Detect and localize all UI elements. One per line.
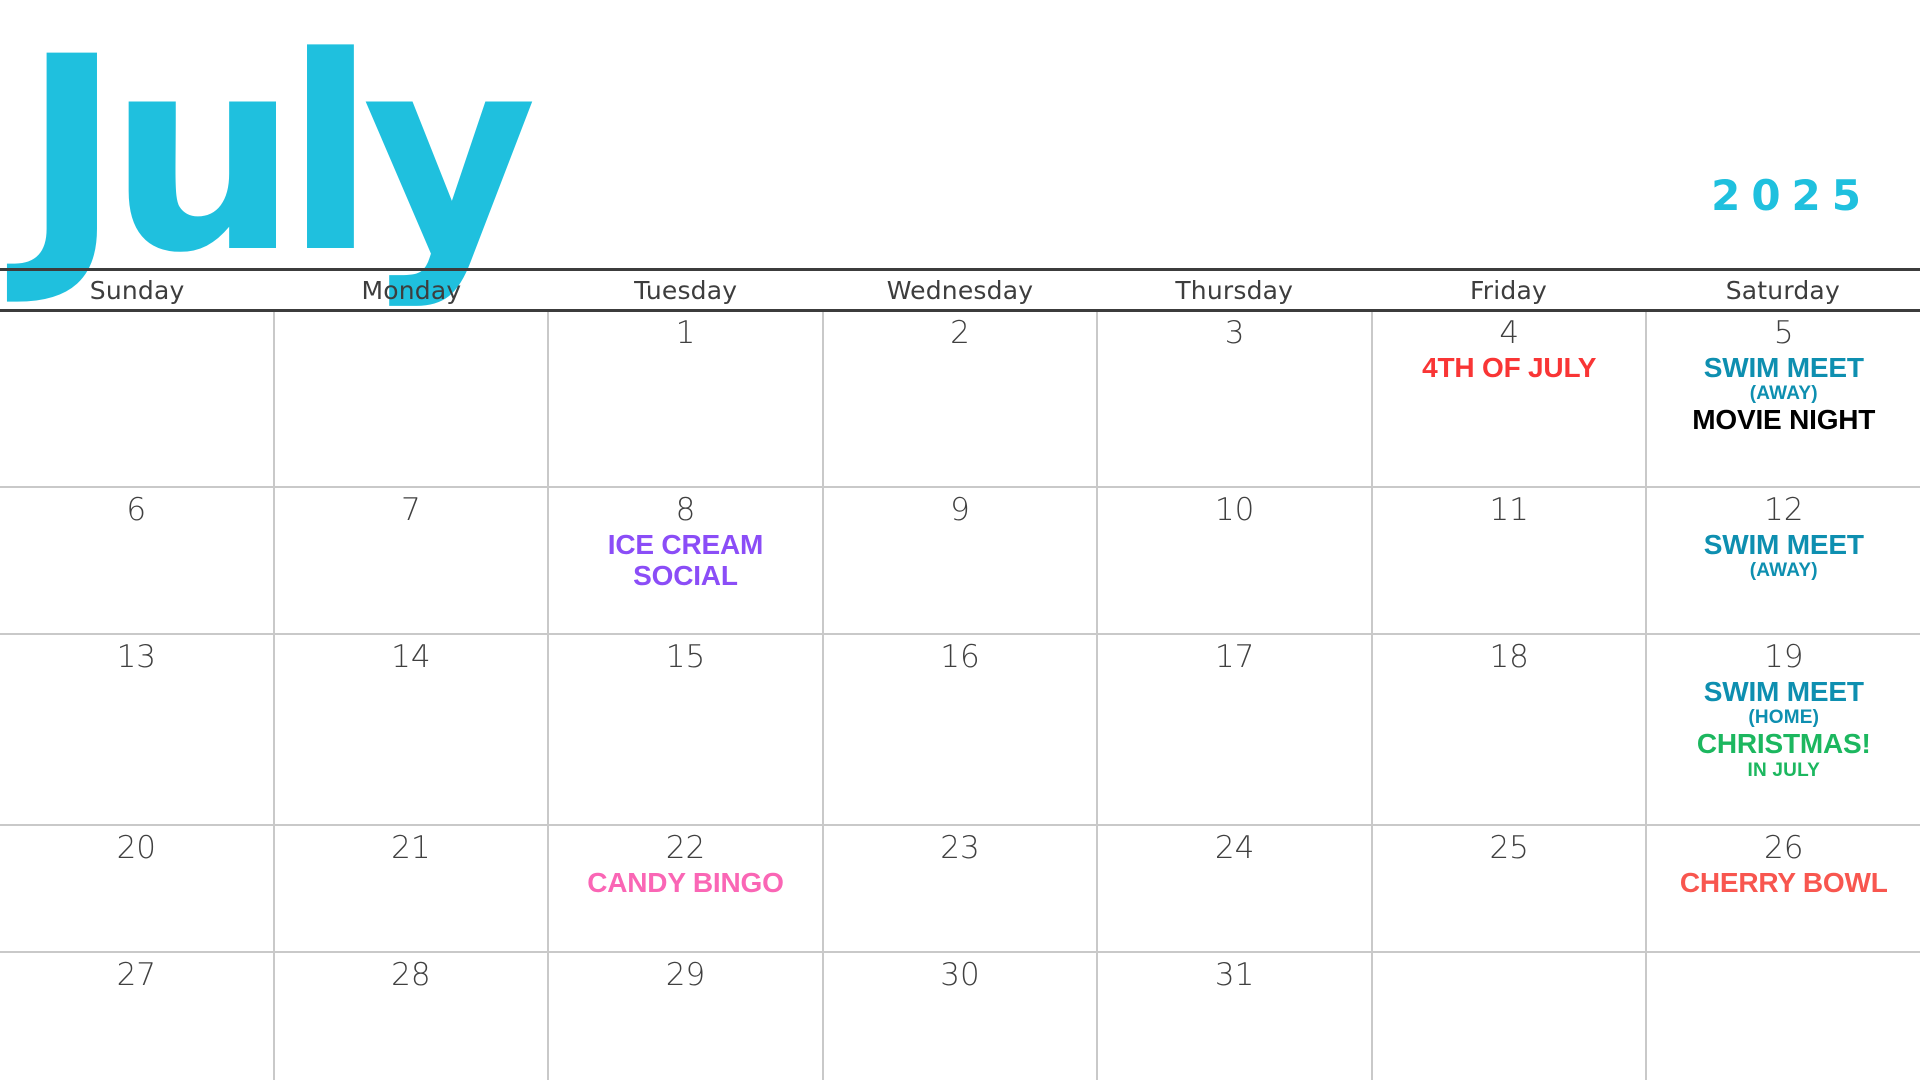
day-number: 8 bbox=[676, 494, 696, 527]
day-events: 4TH OF JULY bbox=[1373, 352, 1646, 383]
week-row: 20 21 22 CANDY BINGO 23 24 25 bbox=[0, 826, 1920, 953]
weekday-header-row: Sunday Monday Tuesday Wednesday Thursday… bbox=[0, 268, 1920, 312]
day-number: 12 bbox=[1764, 494, 1803, 527]
day-events: CHERRY BOWL bbox=[1647, 867, 1920, 898]
day-number: 6 bbox=[126, 494, 146, 527]
day-number: 9 bbox=[950, 494, 970, 527]
event-label: ICE CREAM bbox=[608, 529, 763, 560]
event-label: (HOME) bbox=[1748, 707, 1819, 728]
day-number: 30 bbox=[940, 959, 979, 992]
day-cell[interactable]: 3 bbox=[1096, 311, 1371, 486]
day-cell[interactable]: 23 bbox=[822, 826, 1097, 951]
day-cell[interactable]: 17 bbox=[1096, 635, 1371, 824]
day-number: 13 bbox=[117, 641, 156, 674]
event-label: SWIM MEET bbox=[1704, 352, 1864, 383]
day-number: 14 bbox=[391, 641, 430, 674]
week-row: 1 2 3 4 4TH OF JULY 5 SWIM MEET(AWAY)MOV… bbox=[0, 311, 1920, 488]
day-cell[interactable]: 4 4TH OF JULY bbox=[1371, 311, 1646, 486]
year-label: 2025 bbox=[1711, 175, 1872, 217]
day-cell[interactable]: 5 SWIM MEET(AWAY)MOVIE NIGHT bbox=[1645, 311, 1920, 486]
day-cell[interactable]: 24 bbox=[1096, 826, 1371, 951]
event-label: IN JULY bbox=[1748, 760, 1821, 781]
day-number: 19 bbox=[1764, 641, 1803, 674]
weekday-header-tuesday: Tuesday bbox=[549, 271, 823, 309]
day-number: 27 bbox=[117, 959, 156, 992]
day-cell[interactable]: 20 bbox=[0, 826, 273, 951]
day-number: 21 bbox=[391, 832, 430, 865]
day-cell[interactable]: 10 bbox=[1096, 488, 1371, 633]
week-row: 27 28 29 30 31 bbox=[0, 953, 1920, 1080]
day-cell[interactable]: 31 bbox=[1096, 953, 1371, 1080]
day-number: 18 bbox=[1489, 641, 1528, 674]
day-number: 3 bbox=[1225, 317, 1245, 350]
calendar-grid: 1 2 3 4 4TH OF JULY 5 SWIM MEET(AWAY)MOV… bbox=[0, 311, 1920, 1080]
event-label: SWIM MEET bbox=[1704, 529, 1864, 560]
day-cell[interactable]: 7 bbox=[273, 488, 548, 633]
event-label: CHERRY BOWL bbox=[1680, 867, 1888, 898]
event-label: 4TH OF JULY bbox=[1422, 352, 1596, 383]
weekday-header-wednesday: Wednesday bbox=[823, 271, 1097, 309]
day-cell[interactable] bbox=[1645, 953, 1920, 1080]
weekday-header-saturday: Saturday bbox=[1646, 271, 1920, 309]
event-label: SWIM MEET bbox=[1704, 676, 1864, 707]
weekday-header-thursday: Thursday bbox=[1097, 271, 1371, 309]
day-number: 28 bbox=[391, 959, 430, 992]
event-label: CANDY BINGO bbox=[587, 867, 783, 898]
calendar-page: 2025 Sunday Monday Tuesday Wednesday Thu… bbox=[0, 0, 1920, 1080]
day-number: 11 bbox=[1489, 494, 1528, 527]
day-cell[interactable]: 18 bbox=[1371, 635, 1646, 824]
day-cell[interactable]: 21 bbox=[273, 826, 548, 951]
day-number: 31 bbox=[1215, 959, 1254, 992]
weekday-header-sunday: Sunday bbox=[0, 271, 274, 309]
day-events: SWIM MEET(AWAY)MOVIE NIGHT bbox=[1647, 352, 1920, 436]
day-number: 24 bbox=[1215, 832, 1254, 865]
day-cell[interactable]: 12 SWIM MEET(AWAY) bbox=[1645, 488, 1920, 633]
day-cell[interactable] bbox=[273, 311, 548, 486]
week-row: 13 14 15 16 17 18 bbox=[0, 635, 1920, 826]
day-number: 16 bbox=[940, 641, 979, 674]
weekday-header-friday: Friday bbox=[1371, 271, 1645, 309]
day-cell[interactable]: 30 bbox=[822, 953, 1097, 1080]
day-cell[interactable] bbox=[0, 311, 273, 486]
day-events: ICE CREAMSOCIAL bbox=[549, 529, 822, 592]
day-events: SWIM MEET(AWAY) bbox=[1647, 529, 1920, 582]
day-cell[interactable]: 13 bbox=[0, 635, 273, 824]
day-cell[interactable]: 14 bbox=[273, 635, 548, 824]
day-cell[interactable]: 9 bbox=[822, 488, 1097, 633]
day-cell[interactable]: 1 bbox=[547, 311, 822, 486]
day-cell[interactable]: 8 ICE CREAMSOCIAL bbox=[547, 488, 822, 633]
day-number: 7 bbox=[401, 494, 421, 527]
event-label: CHRISTMAS! bbox=[1697, 728, 1871, 759]
day-number: 20 bbox=[117, 832, 156, 865]
day-number: 4 bbox=[1499, 317, 1519, 350]
day-number: 1 bbox=[676, 317, 696, 350]
day-number: 15 bbox=[666, 641, 705, 674]
day-number: 2 bbox=[950, 317, 970, 350]
week-row: 6 7 8 ICE CREAMSOCIAL 9 10 11 bbox=[0, 488, 1920, 635]
event-label: (AWAY) bbox=[1750, 560, 1818, 581]
weekday-header-monday: Monday bbox=[274, 271, 548, 309]
event-label: SOCIAL bbox=[633, 560, 738, 591]
day-cell[interactable]: 11 bbox=[1371, 488, 1646, 633]
event-label: (AWAY) bbox=[1750, 383, 1818, 404]
day-cell[interactable]: 6 bbox=[0, 488, 273, 633]
day-number: 23 bbox=[940, 832, 979, 865]
day-cell[interactable]: 28 bbox=[273, 953, 548, 1080]
day-cell[interactable]: 19 SWIM MEET(HOME)CHRISTMAS!IN JULY bbox=[1645, 635, 1920, 824]
day-cell[interactable] bbox=[1371, 953, 1646, 1080]
day-cell[interactable]: 26 CHERRY BOWL bbox=[1645, 826, 1920, 951]
day-number: 17 bbox=[1215, 641, 1254, 674]
day-cell[interactable]: 27 bbox=[0, 953, 273, 1080]
day-cell[interactable]: 22 CANDY BINGO bbox=[547, 826, 822, 951]
day-number: 22 bbox=[666, 832, 705, 865]
day-events: SWIM MEET(HOME)CHRISTMAS!IN JULY bbox=[1647, 676, 1920, 781]
event-label: MOVIE NIGHT bbox=[1692, 404, 1875, 435]
day-number: 25 bbox=[1489, 832, 1528, 865]
calendar-masthead: 2025 bbox=[0, 0, 1920, 268]
day-number: 26 bbox=[1764, 832, 1803, 865]
day-cell[interactable]: 2 bbox=[822, 311, 1097, 486]
day-cell[interactable]: 16 bbox=[822, 635, 1097, 824]
day-number: 5 bbox=[1774, 317, 1794, 350]
day-number: 29 bbox=[666, 959, 705, 992]
day-cell[interactable]: 25 bbox=[1371, 826, 1646, 951]
day-events: CANDY BINGO bbox=[549, 867, 822, 898]
day-cell[interactable]: 15 bbox=[547, 635, 822, 824]
day-cell[interactable]: 29 bbox=[547, 953, 822, 1080]
day-number: 10 bbox=[1215, 494, 1254, 527]
